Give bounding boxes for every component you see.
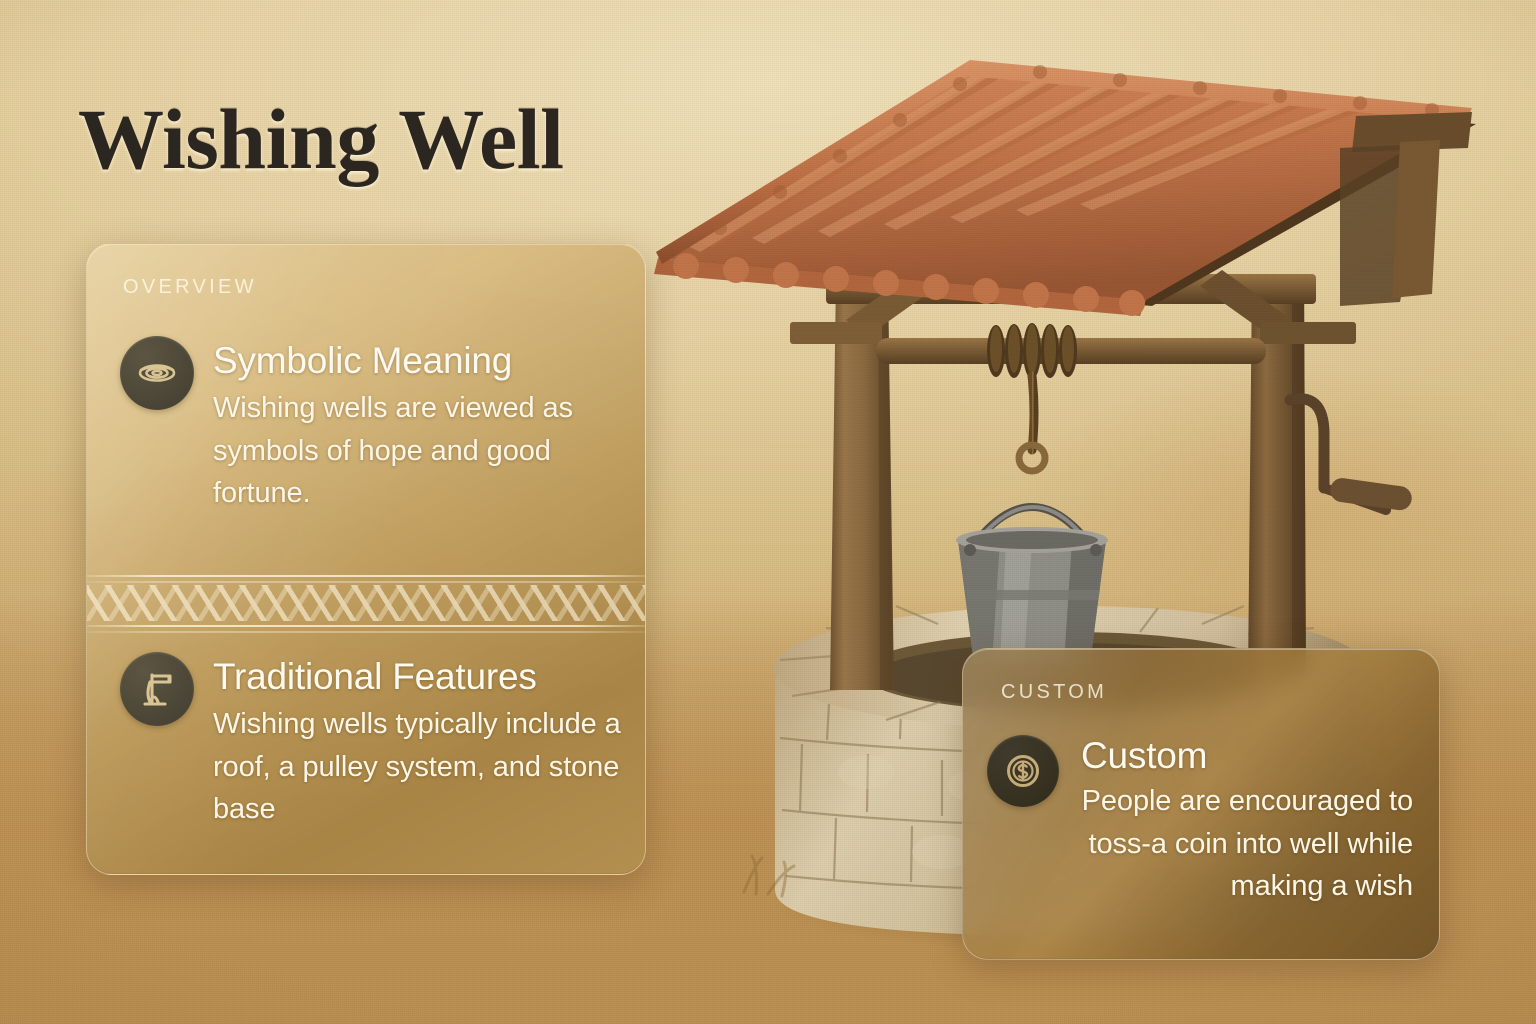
divider-braid-pattern bbox=[87, 585, 645, 621]
overview-item-heading: Traditional Features bbox=[213, 656, 630, 699]
coin-dollar-icon bbox=[987, 735, 1059, 807]
divider-rule-top-secondary bbox=[87, 581, 645, 583]
overview-item-traditional-features: Traditional Features Wishing wells typic… bbox=[120, 652, 630, 831]
custom-eyebrow: CUSTOM bbox=[1001, 681, 1107, 704]
custom-item: Custom People are encouraged to toss-a c… bbox=[987, 735, 1413, 908]
winch-crank-icon bbox=[120, 652, 194, 726]
overview-item-body: Wishing wells typically include a roof, … bbox=[213, 703, 630, 831]
overview-card: OVERVIEW Symbolic Meaning Wishing wells … bbox=[86, 243, 646, 875]
water-ripple-icon bbox=[120, 336, 194, 410]
decorative-divider bbox=[87, 567, 645, 641]
overview-item-heading: Symbolic Meaning bbox=[213, 340, 620, 383]
custom-heading: Custom bbox=[1081, 735, 1413, 778]
overview-eyebrow: OVERVIEW bbox=[123, 276, 257, 299]
page-title: Wishing Well bbox=[78, 96, 564, 182]
custom-body: People are encouraged to toss-a coin int… bbox=[1081, 780, 1413, 908]
overview-item-symbolic-meaning: Symbolic Meaning Wishing wells are viewe… bbox=[120, 336, 620, 515]
divider-rule-bottom bbox=[87, 625, 645, 627]
overview-item-body: Wishing wells are viewed as symbols of h… bbox=[213, 387, 620, 515]
custom-card: CUSTOM Custom People are encouraged to t… bbox=[962, 648, 1440, 960]
divider-rule-top bbox=[87, 575, 645, 577]
divider-rule-bottom-secondary bbox=[87, 631, 645, 633]
